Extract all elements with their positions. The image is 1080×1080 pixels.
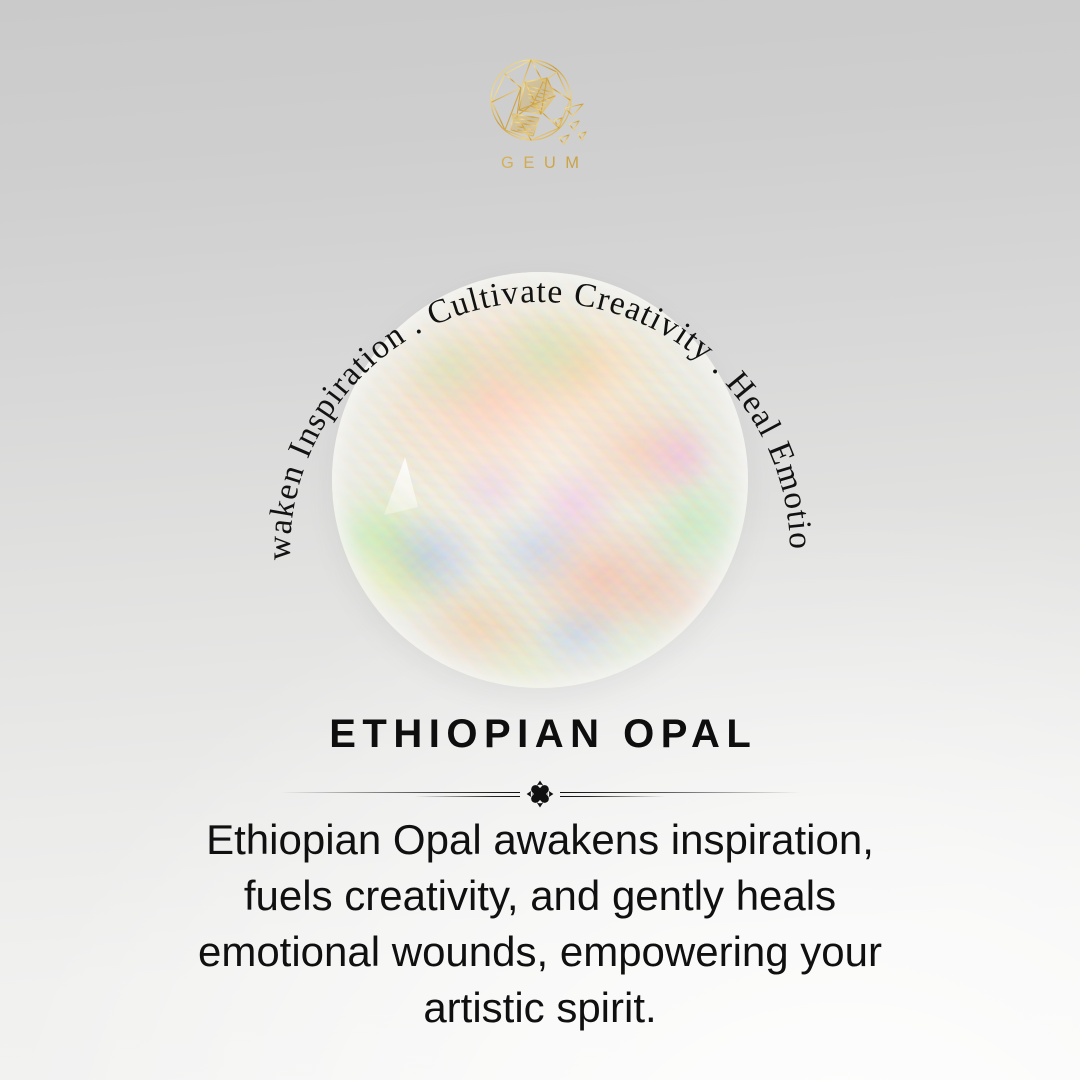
opal-gemstone-image [332, 272, 748, 688]
divider-rule-left [280, 790, 520, 799]
opal-stone-disc [332, 272, 748, 688]
brand-logo: GEUM [0, 52, 1080, 173]
ornamental-divider [280, 779, 800, 809]
brand-wordmark: GEUM [0, 154, 1080, 173]
description-text: Ethiopian Opal awakens inspiration, fuel… [160, 812, 920, 1035]
gemstone-info-card: GEUM Awaken Inspiration . Cultivate Crea… [0, 0, 1080, 1080]
page-title: ETHIOPIAN OPAL [0, 712, 1080, 757]
faceted-gem-logo-icon [481, 52, 599, 152]
opal-rim-fade-layer [332, 272, 748, 688]
divider-rule-right [560, 790, 800, 799]
quatrefoil-ornament-icon [525, 779, 555, 809]
